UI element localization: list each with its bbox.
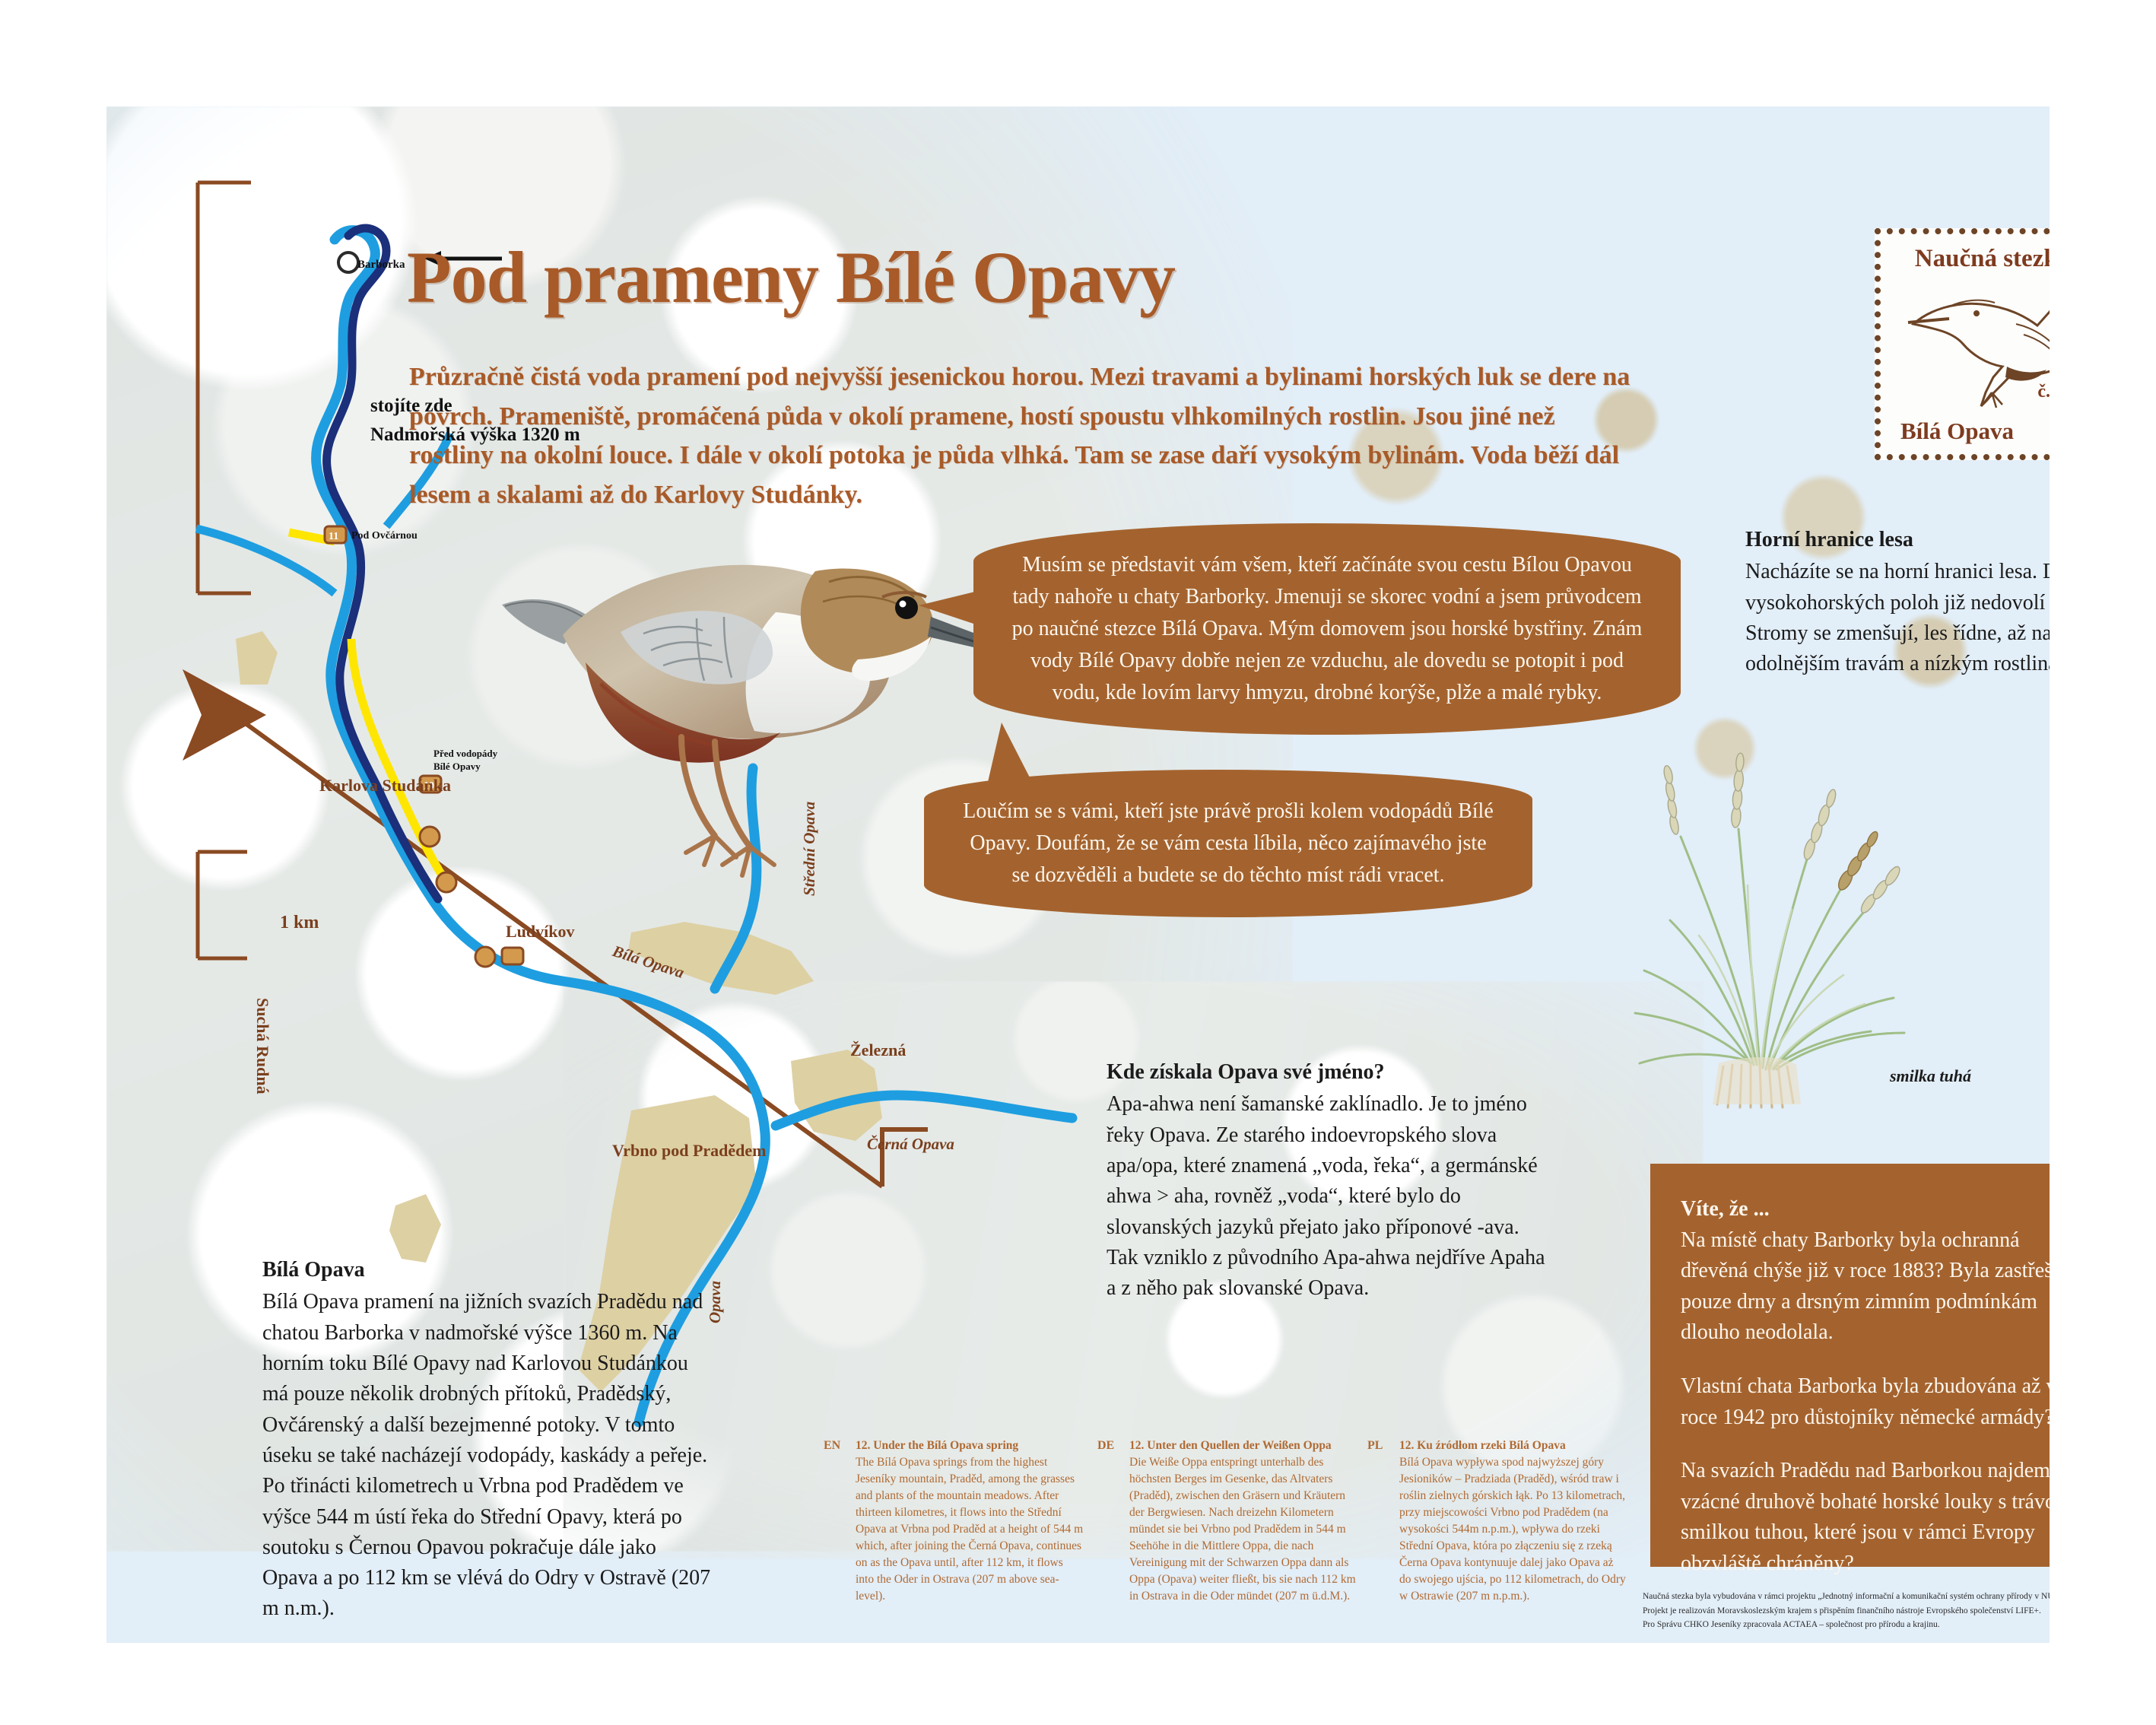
speech-bubble-intro-text: Musím se představit vám všem, kteří začí… bbox=[1012, 553, 1643, 704]
bubble-tail-icon bbox=[919, 589, 987, 628]
language-block-pl: PL 12. Ku źródłom rzeki Bílá Opava Bílá … bbox=[1399, 1437, 1627, 1605]
language-block-de: DE 12. Unter den Quellen der Weißen Oppa… bbox=[1129, 1437, 1357, 1605]
section-body: Bílá Opava pramení na jižních svazích Pr… bbox=[262, 1290, 710, 1620]
map-scale-label: 1 km bbox=[280, 913, 319, 933]
language-heading: 12. Ku źródłom rzeki Bílá Opava bbox=[1399, 1437, 1627, 1454]
did-you-know-paragraph-3: Na svazích Pradědu nad Barborkou najdeme… bbox=[1681, 1456, 2050, 1579]
language-heading: 12. Under the Bílá Opava spring bbox=[856, 1437, 1084, 1454]
language-body: Bílá Opava wypływa spod najwyższej góry … bbox=[1399, 1456, 1626, 1603]
speech-bubble-intro: Musím se představit vám všem, kteří začí… bbox=[973, 523, 1681, 735]
did-you-know-paragraph-1: Na místě chaty Barborky byla ochranná dř… bbox=[1681, 1225, 2050, 1349]
language-tag: PL bbox=[1367, 1437, 1383, 1455]
info-panel: Barborka 11 Pod Ovčárnou 10 Před vodopád… bbox=[106, 106, 2050, 1643]
did-you-know-box: Víte, že ... Na místě chaty Barborky byl… bbox=[1650, 1164, 2050, 1567]
speech-bubble-farewell: Loučím se s vámi, kteří jste právě prošl… bbox=[924, 770, 1532, 917]
section-heading: Bílá Opava bbox=[262, 1255, 711, 1285]
language-tag: DE bbox=[1097, 1437, 1114, 1455]
footer-fineprint: Naučná stezka byla vybudována v rámci pr… bbox=[1643, 1590, 2050, 1643]
stamp-bottom-label: Bílá Opava bbox=[1900, 418, 2014, 445]
trail-stamp-badge: Naučná stezka č.12 Bílá Opava bbox=[1875, 228, 2050, 460]
dipper-bird-icon bbox=[1902, 271, 2050, 411]
language-heading: 12. Unter den Quellen der Weißen Oppa bbox=[1129, 1437, 1357, 1454]
stamp-number-prefix: č. bbox=[2037, 382, 2050, 402]
stamp-number: č.12 bbox=[2037, 367, 2050, 407]
map-place-vrbno-pod-pradedem: Vrbno pod Pradědem bbox=[612, 1141, 767, 1161]
section-heading: Horní hranice lesa bbox=[1745, 525, 2050, 555]
map-river-cerna-opava: Černá Opava bbox=[867, 1135, 954, 1154]
map-marker-pod-ovcarnou: 11 Pod Ovčárnou bbox=[325, 526, 418, 543]
page-subtitle: Průzračně čistá voda pramení pod nejvyšš… bbox=[409, 357, 1634, 515]
svg-text:Pod Ovčárnou: Pod Ovčárnou bbox=[351, 530, 418, 542]
bubble-tail-icon bbox=[988, 723, 1032, 782]
svg-text:11: 11 bbox=[329, 531, 338, 542]
section-body: Apa-ahwa není šamanské zaklínadlo. Je to… bbox=[1107, 1092, 1545, 1300]
stamp-top-label: Naučná stezka bbox=[1881, 245, 2050, 273]
footer-line-2: Projekt je realizován Moravskoslezským k… bbox=[1643, 1604, 2050, 1619]
map-place-sucha-rudna: Suchá Rudná bbox=[252, 998, 272, 1094]
plant-caption: smilka tuhá bbox=[1890, 1066, 1971, 1086]
language-tag: EN bbox=[824, 1437, 840, 1455]
language-body: The Bílá Opava springs from the highest … bbox=[856, 1456, 1083, 1603]
section-kde-ziskala-opava-jmeno: Kde získala Opava své jméno? Apa-ahwa ne… bbox=[1107, 1057, 1548, 1304]
map-place-karlova-studanka: Karlova Studánka bbox=[319, 776, 451, 796]
map-place-zelezna: Železná bbox=[850, 1040, 906, 1060]
page-title: Pod prameny Bílé Opavy bbox=[407, 240, 1700, 316]
did-you-know-paragraph-2: Vlastní chata Barborka byla zbudována až… bbox=[1681, 1371, 2050, 1433]
section-bila-opava: Bílá Opava Bílá Opava pramení na jižních… bbox=[262, 1255, 711, 1625]
footer-line-3: Pro Správu CHKO Jeseníky zpracovala ACTA… bbox=[1643, 1618, 2050, 1632]
language-block-en: EN 12. Under the Bílá Opava spring The B… bbox=[856, 1437, 1084, 1605]
section-body: Nacházíte se na horní hranici lesa. Drsn… bbox=[1745, 560, 2050, 675]
language-body: Die Weiße Oppa entspringt unterhalb des … bbox=[1129, 1456, 1356, 1603]
section-heading: Kde získala Opava své jméno? bbox=[1107, 1057, 1548, 1088]
speech-bubble-farewell-text: Loučím se s vámi, kteří jste právě prošl… bbox=[963, 799, 1494, 887]
svg-text:Barborka: Barborka bbox=[357, 259, 405, 271]
section-horni-hranice-lesa: Horní hranice lesa Nacházíte se na horní… bbox=[1745, 525, 2050, 680]
did-you-know-heading: Víte, že ... bbox=[1681, 1194, 2050, 1225]
smilka-tuha-grass-illustration bbox=[1597, 685, 1992, 1110]
footer-line-1: Naučná stezka byla vybudována v rámci pr… bbox=[1643, 1590, 2050, 1604]
